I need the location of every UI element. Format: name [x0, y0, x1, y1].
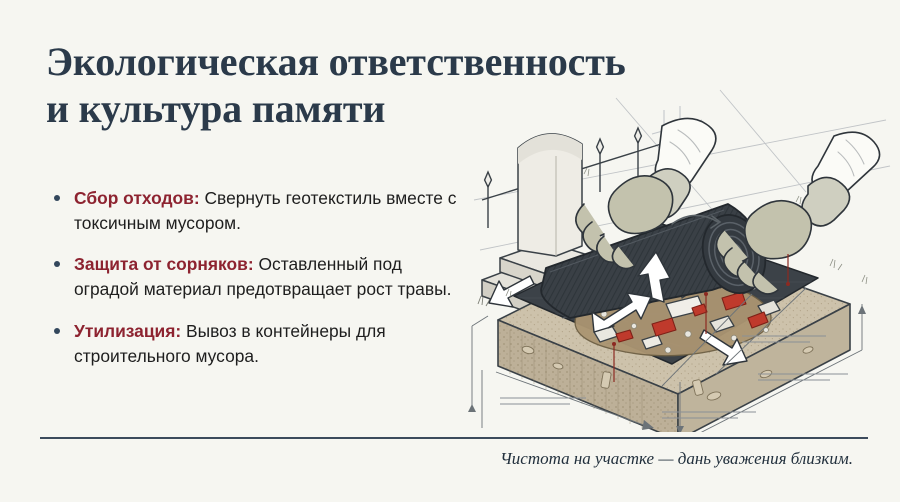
geotextile-removal-illustration — [466, 82, 896, 432]
footer-note: Чистота на участке — дань уважения близк… — [500, 449, 853, 469]
list-item: Сбор отходов: Свернуть геотекстиль вмест… — [48, 186, 460, 235]
bullet-list: Сбор отходов: Свернуть геотекстиль вмест… — [48, 186, 460, 368]
list-item: Защита от сорняков: Оставленный под огра… — [48, 252, 460, 301]
footer-divider — [40, 437, 868, 439]
bullet-lead: Утилизация: — [74, 321, 181, 341]
bullet-dot-icon — [54, 328, 60, 334]
slide-root: Экологическая ответственность и культура… — [0, 0, 900, 502]
title-line-1: Экологическая ответственность — [46, 38, 746, 85]
bullet-lead: Сбор отходов: — [74, 188, 200, 208]
bullet-lead: Защита от сорняков: — [74, 254, 254, 274]
list-item: Утилизация: Вывоз в контейнеры для строи… — [48, 319, 460, 368]
bullet-dot-icon — [54, 195, 60, 201]
bullet-dot-icon — [54, 261, 60, 267]
